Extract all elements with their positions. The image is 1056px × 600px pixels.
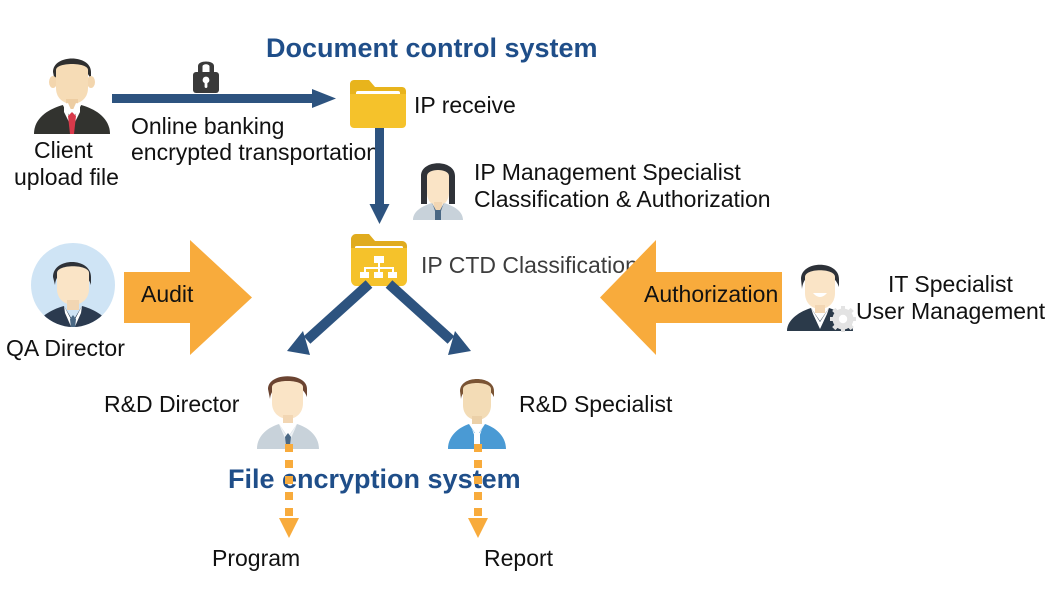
arrow-down-left-icon	[275, 282, 375, 362]
rd-director-label: R&D Director	[104, 390, 239, 418]
dashed-arrow-down-icon	[464, 444, 492, 540]
program-dashed-arrow	[275, 444, 303, 540]
rd-director-avatar	[255, 367, 321, 449]
program-label: Program	[212, 544, 300, 572]
ip-management-specialist-label-line1: IP Management Specialist	[474, 158, 741, 186]
it-specialist-label-line1: IT Specialist	[888, 270, 1013, 298]
it-specialist-label-line2: User Management	[856, 297, 1045, 325]
dashed-arrow-down-icon	[275, 444, 303, 540]
transport-arrow	[112, 86, 340, 112]
rd-specialist-avatar	[444, 367, 510, 449]
ctd-to-rd-director-arrow	[275, 282, 375, 362]
transport-label-line1: Online banking	[131, 113, 284, 140]
report-dashed-arrow	[464, 444, 492, 540]
ip-ctd-folder	[351, 234, 407, 286]
folder-icon	[350, 80, 406, 128]
ip-receive-to-ctd-arrow	[366, 128, 394, 224]
it-specialist-avatar	[785, 253, 859, 331]
businessman-avatar-icon	[30, 42, 114, 134]
audit-label: Audit	[141, 281, 193, 308]
ctd-to-rd-specialist-arrow	[383, 282, 483, 362]
client-avatar	[30, 42, 114, 134]
qa-director-avatar-icon	[31, 243, 115, 327]
folder-hierarchy-icon	[351, 234, 407, 286]
ip-management-specialist-avatar	[409, 152, 467, 220]
arrow-down-icon	[366, 128, 394, 224]
transport-label-line2: encrypted transportation	[131, 139, 379, 166]
document-control-system-title: Document control system	[266, 33, 598, 64]
qa-director-avatar	[31, 243, 115, 327]
rd-specialist-avatar-icon	[444, 367, 510, 449]
arrow-down-right-icon	[383, 282, 483, 362]
it-specialist-gear-avatar-icon	[785, 253, 859, 331]
ip-management-specialist-label-line2: Classification & Authorization	[474, 185, 771, 213]
rd-specialist-label: R&D Specialist	[519, 390, 672, 418]
ip-receive-label: IP receive	[414, 91, 516, 119]
ip-receive-folder	[350, 80, 406, 128]
businesswoman-avatar-icon	[409, 152, 467, 220]
rd-director-avatar-icon	[255, 367, 321, 449]
authorization-label: Authorization	[644, 281, 778, 308]
report-label: Report	[484, 544, 553, 572]
client-label-line2: upload file	[14, 163, 174, 191]
qa-director-label: QA Director	[6, 334, 125, 362]
arrow-right-icon	[112, 86, 340, 112]
diagram-canvas: Document control system File encryption …	[0, 0, 1056, 600]
